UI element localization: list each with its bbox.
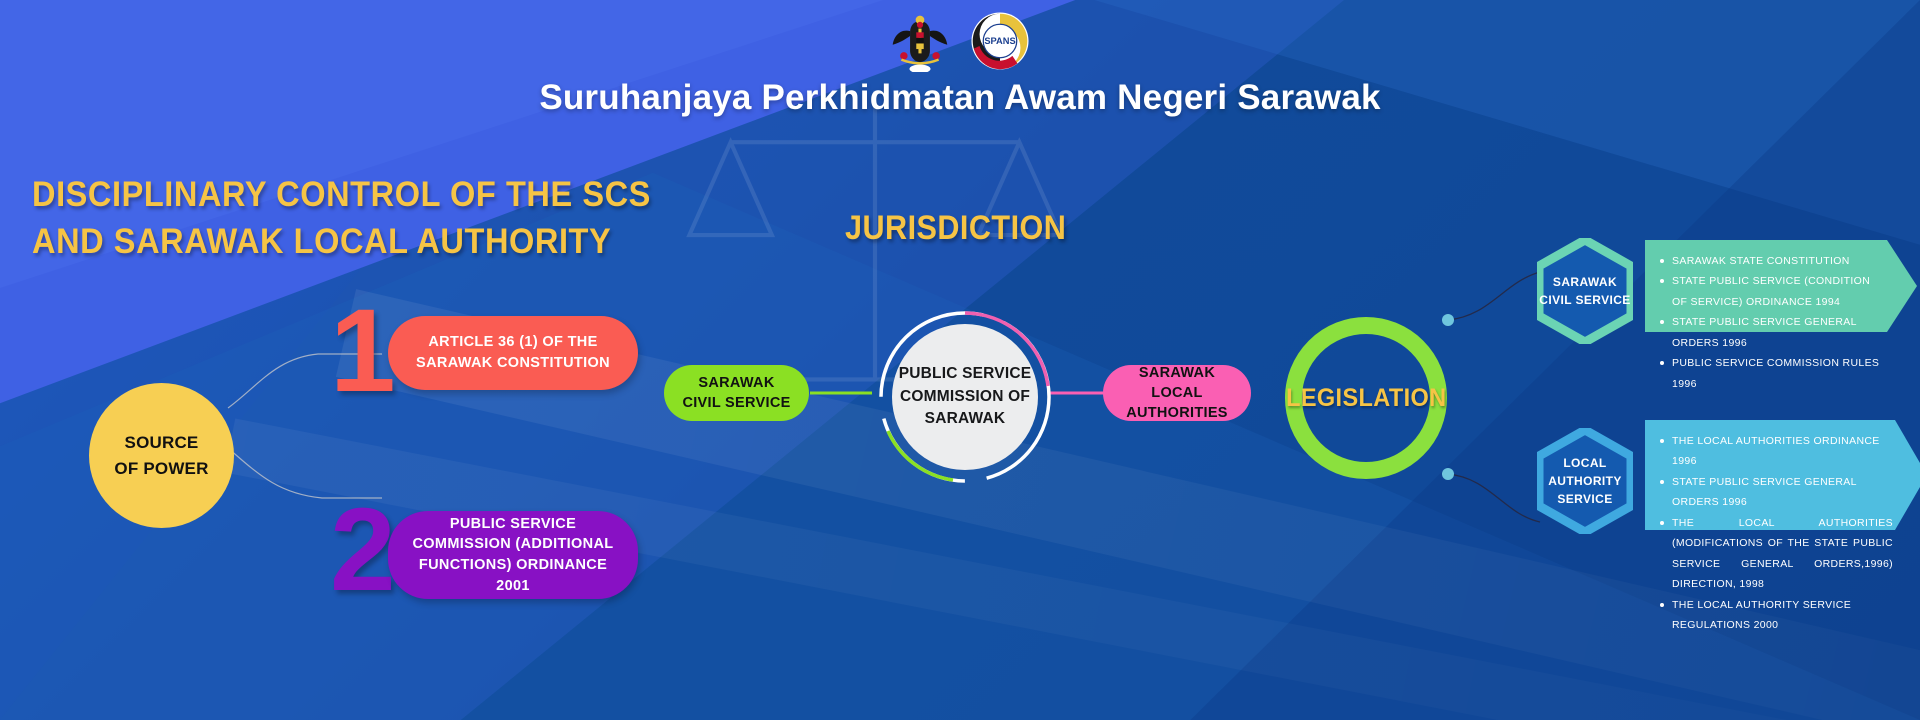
- page-header: SPANS Suruhanjaya Perkhidmatan Awam Nege…: [0, 0, 1920, 118]
- legislation-branch-1-panel[interactable]: SARAWAK STATE CONSTITUTION STATE PUBLIC …: [1645, 240, 1917, 332]
- list-item: THE LOCAL AUTHORITY SERVICE REGULATIONS …: [1657, 595, 1897, 636]
- list-item: THE LOCAL AUTHORITIES (MODIFICATIONS OF …: [1657, 513, 1897, 595]
- list-item: STATE PUBLIC SERVICE GENERAL ORDERS 1996: [1657, 312, 1887, 353]
- list-item: STATE PUBLIC SERVICE (CONDITION OF SERVI…: [1657, 271, 1887, 312]
- legislation-branch-2-panel[interactable]: THE LOCAL AUTHORITIES ORDINANCE 1996 STA…: [1645, 420, 1920, 530]
- page-title-line-2: AND SARAWAK LOCAL AUTHORITY: [32, 219, 627, 266]
- jurisdiction-heading: JURISDICTION: [845, 209, 1066, 248]
- legislation-node[interactable]: LEGISLATION: [1285, 317, 1447, 479]
- source-item-2-label: PUBLIC SERVICE COMMISSION (ADDITIONAL FU…: [388, 511, 638, 599]
- spans-logo-icon: SPANS: [969, 10, 1031, 72]
- page-title-line-1: DISCIPLINARY CONTROL OF THE SCS: [32, 172, 627, 219]
- list-item: PUBLIC SERVICE COMMISSION RULES 1996: [1657, 353, 1887, 394]
- legislation-branch-2-label: LOCAL AUTHORITY SERVICE: [1537, 428, 1633, 534]
- legislation-branch-2-hexagon[interactable]: LOCAL AUTHORITY SERVICE: [1537, 428, 1633, 534]
- svg-text:SPANS: SPANS: [984, 36, 1015, 46]
- infographic-canvas: SPANS Suruhanjaya Perkhidmatan Awam Nege…: [0, 0, 1920, 720]
- list-item: SARAWAK STATE CONSTITUTION: [1657, 251, 1887, 271]
- page-title: DISCIPLINARY CONTROL OF THE SCS AND SARA…: [32, 172, 627, 265]
- logo-row: SPANS: [0, 0, 1920, 76]
- source-of-power-label-1: SOURCE: [125, 430, 199, 456]
- legislation-label: LEGISLATION: [1286, 384, 1446, 413]
- list-item: THE LOCAL AUTHORITIES ORDINANCE 1996: [1657, 431, 1897, 472]
- list-item: STATE PUBLIC SERVICE GENERAL ORDERS 1996: [1657, 472, 1897, 513]
- legislation-branch-2-list: THE LOCAL AUTHORITIES ORDINANCE 1996 STA…: [1657, 431, 1897, 636]
- sarawak-coat-of-arms-icon: [889, 10, 951, 72]
- jurisdiction-center-label: PUBLIC SERVICE COMMISSION OF SARAWAK: [892, 324, 1038, 470]
- source-item-1-number: 1: [330, 292, 396, 410]
- source-item-1-label: ARTICLE 36 (1) OF THE SARAWAK CONSTITUTI…: [388, 316, 638, 390]
- site-title: Suruhanjaya Perkhidmatan Awam Negeri Sar…: [0, 78, 1920, 118]
- legislation-branch-1-label: SARAWAK CIVIL SERVICE: [1537, 238, 1633, 344]
- legislation-branch-1-hexagon[interactable]: SARAWAK CIVIL SERVICE: [1537, 238, 1633, 344]
- jurisdiction-left-pill[interactable]: SARAWAK CIVIL SERVICE: [664, 365, 809, 421]
- legislation-branch-2-list-wrap: THE LOCAL AUTHORITIES ORDINANCE 1996 STA…: [1645, 420, 1920, 647]
- legislation-branch-1-list-wrap: SARAWAK STATE CONSTITUTION STATE PUBLIC …: [1645, 240, 1917, 405]
- source-item-2-number: 2: [330, 491, 396, 609]
- source-of-power-node[interactable]: SOURCE OF POWER: [89, 383, 234, 528]
- jurisdiction-center-node[interactable]: PUBLIC SERVICE COMMISSION OF SARAWAK: [865, 298, 1065, 493]
- source-of-power-label-2: OF POWER: [114, 456, 208, 482]
- legislation-branch-1-list: SARAWAK STATE CONSTITUTION STATE PUBLIC …: [1657, 251, 1887, 394]
- jurisdiction-right-pill[interactable]: SARAWAK LOCAL AUTHORITIES: [1103, 365, 1251, 421]
